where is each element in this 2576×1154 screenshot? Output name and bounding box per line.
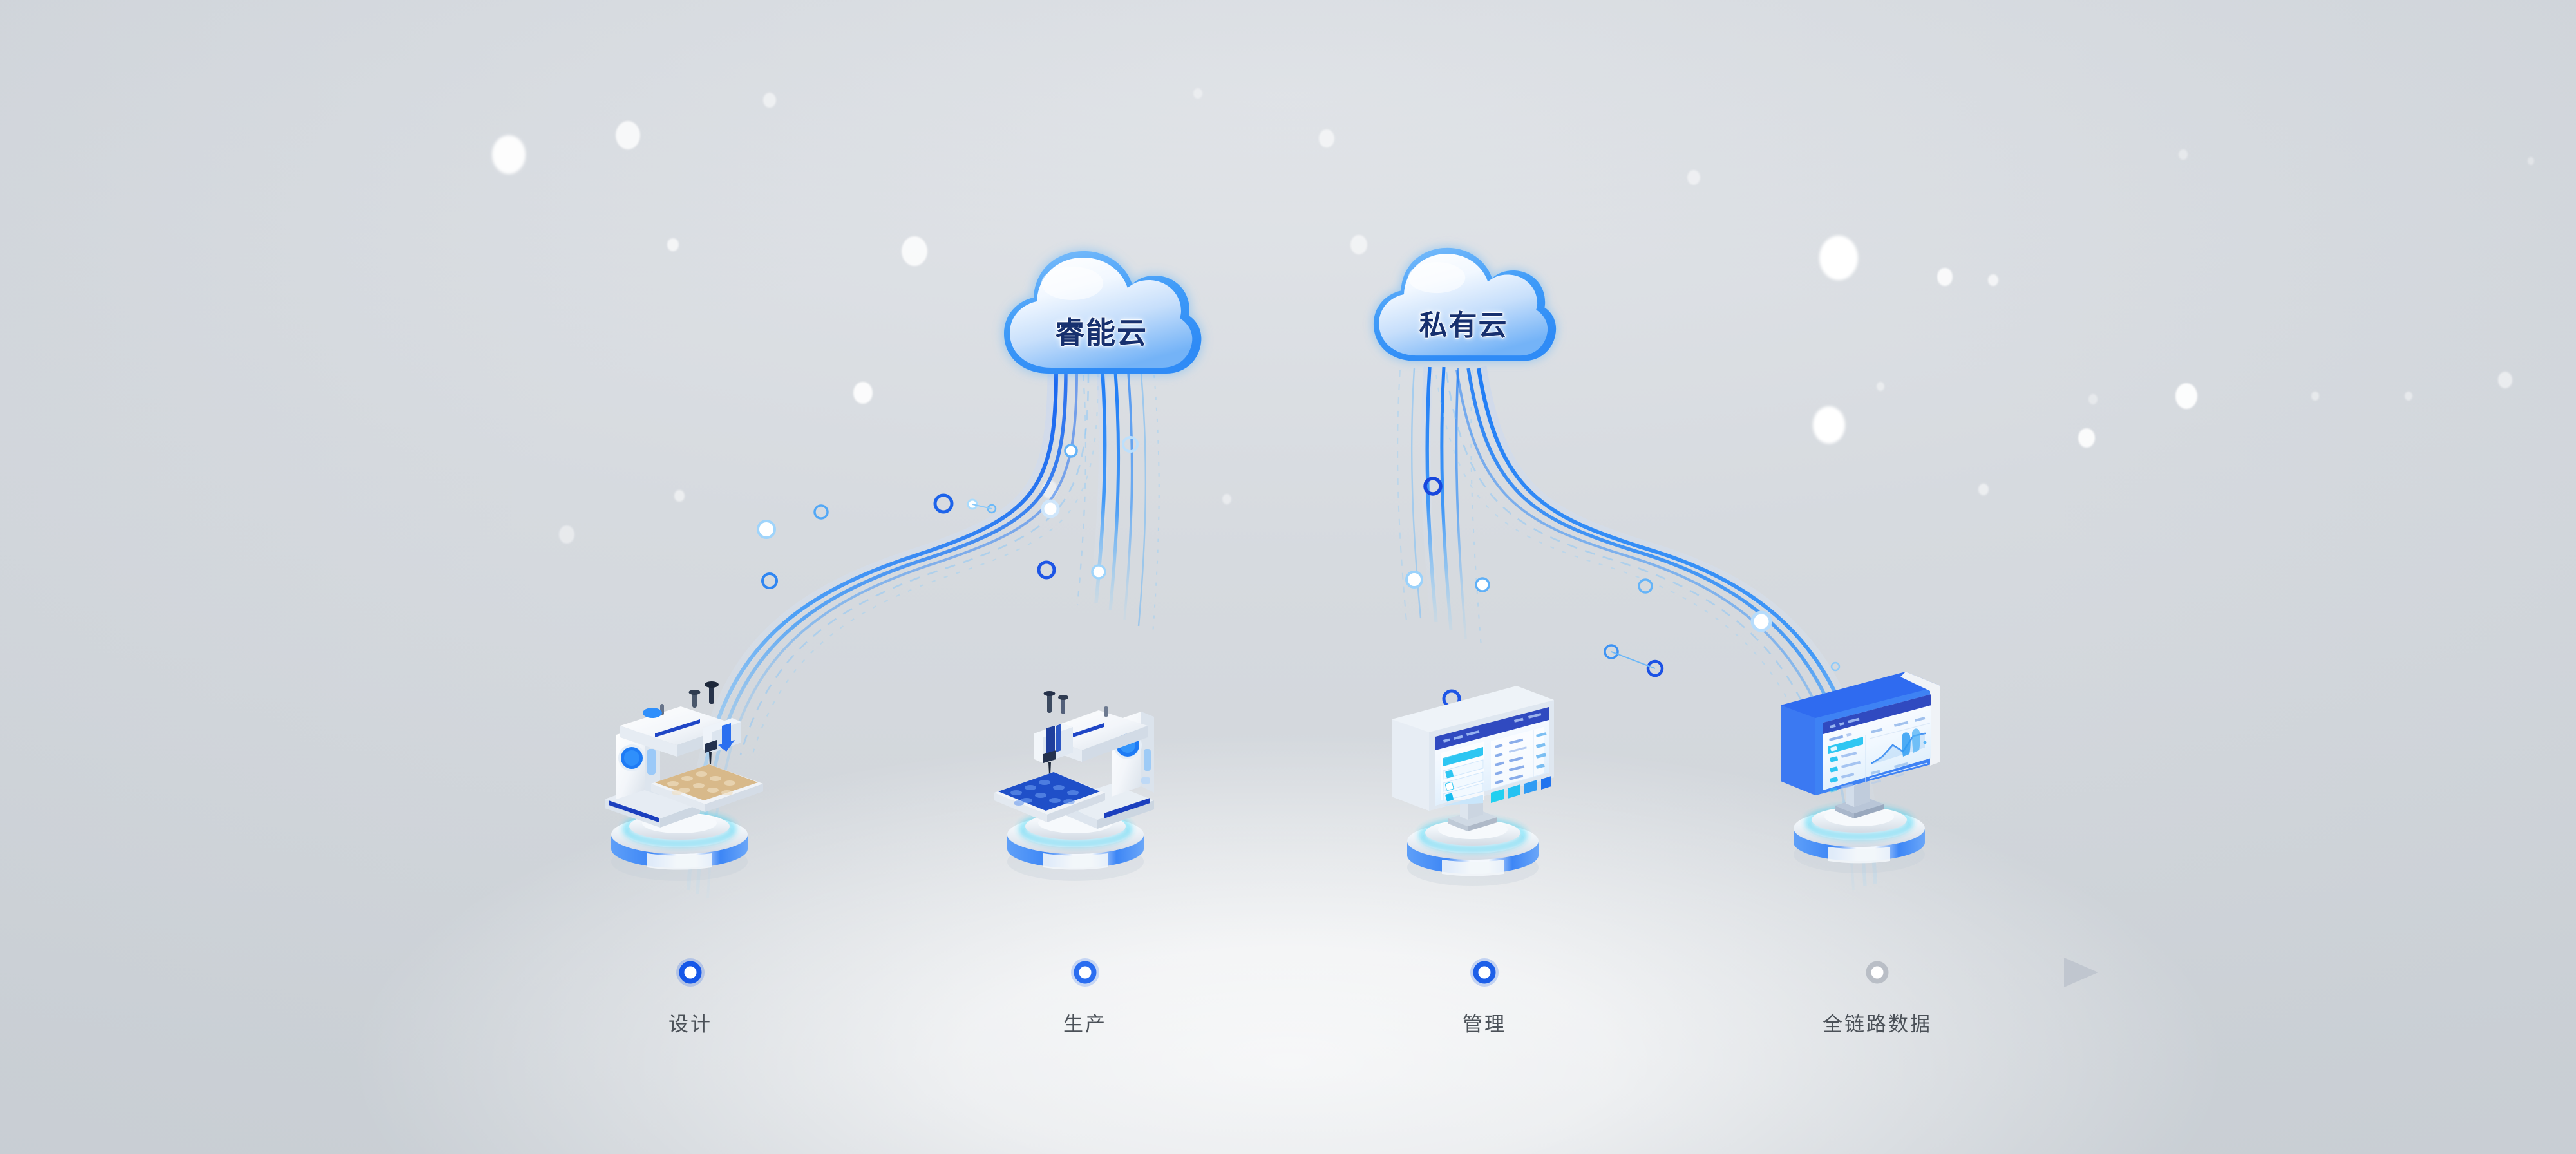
timeline-node-3[interactable] <box>1470 958 1499 987</box>
timeline-node-4[interactable] <box>1869 964 1886 981</box>
timeline-node-2[interactable] <box>1071 958 1099 987</box>
timeline-label-3: 管理 <box>1463 1008 1506 1037</box>
process-timeline: 设计生产管理全链路数据 <box>0 0 2576 1154</box>
timeline-label-4: 全链路数据 <box>1823 1008 1932 1037</box>
scene-canvas: 睿能云 <box>0 0 2576 1154</box>
timeline-label-1: 设计 <box>668 1008 712 1037</box>
timeline-node-1[interactable] <box>676 958 705 987</box>
flow-direction-arrow <box>2064 958 2098 987</box>
timeline-label-2: 生产 <box>1063 1008 1107 1037</box>
